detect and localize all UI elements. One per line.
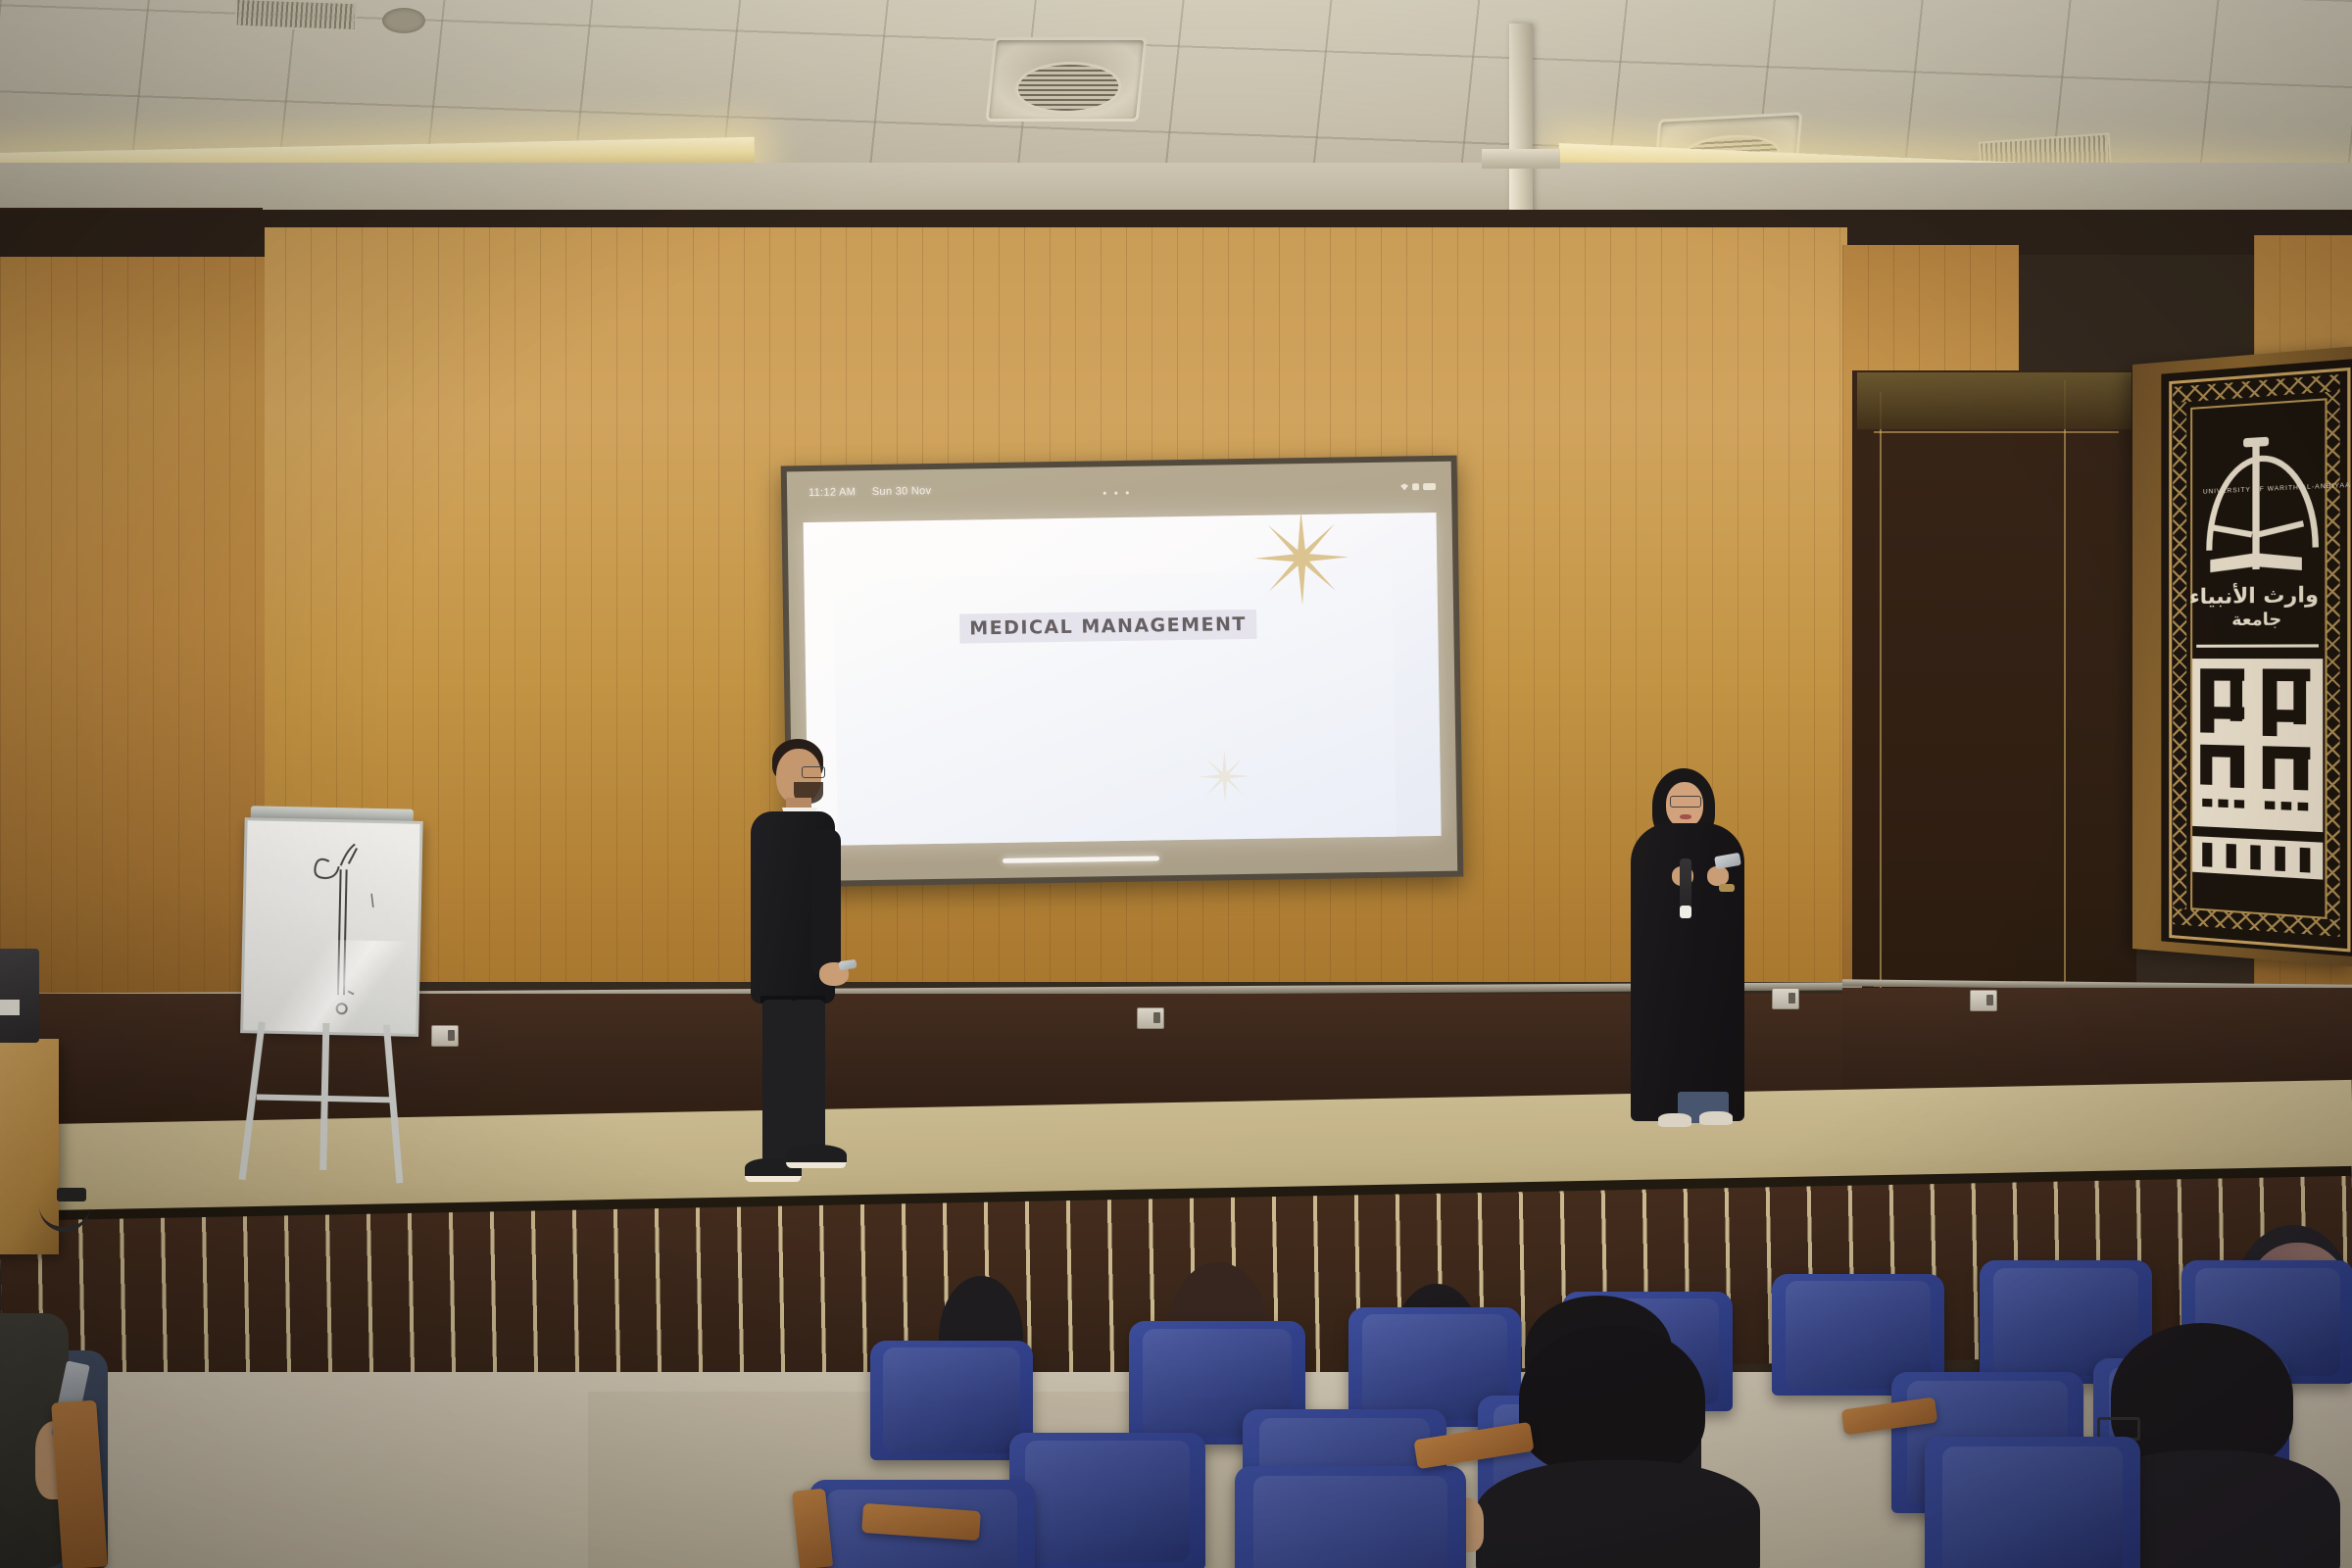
auditorium-seat[interactable] xyxy=(870,1341,1033,1460)
kufic-glyph xyxy=(2263,668,2311,681)
wifi-icon xyxy=(1400,483,1408,490)
wall-shadow-band xyxy=(0,210,265,257)
presentation-slide: MEDICAL MANAGEMENT xyxy=(804,513,1442,846)
male-presenter-leg-left xyxy=(762,1000,796,1166)
female-presenter-glasses xyxy=(1670,796,1701,808)
emblem-arabic-subtitle: جامعة xyxy=(2196,610,2319,631)
female-presenter-hand-phone xyxy=(1707,866,1729,886)
attendee-shoulders xyxy=(1476,1460,1760,1568)
male-presenter-phone[interactable] xyxy=(838,959,857,970)
hvac-diffuser-vent xyxy=(985,37,1147,122)
flipchart-glare xyxy=(243,938,417,1034)
kufic-glyph xyxy=(2277,710,2306,722)
floor-power-adapter xyxy=(57,1188,86,1201)
foot-block-gap xyxy=(2227,844,2236,868)
power-outlet[interactable] xyxy=(431,1025,459,1047)
microphone-foot xyxy=(1680,906,1691,918)
panel-gold-trim xyxy=(1880,392,1882,1000)
power-outlet[interactable] xyxy=(1137,1007,1164,1029)
podium-monitor xyxy=(0,949,39,1043)
panel-top-glow xyxy=(1857,372,2131,429)
mirrored-status-bar: 11:12 AM Sun 30 Nov xyxy=(808,485,931,499)
foot-block-gap xyxy=(2300,848,2311,873)
easel-leg-left xyxy=(239,1022,266,1181)
male-presenter xyxy=(737,739,874,1200)
right-dark-panel xyxy=(1852,370,2136,1056)
female-presenter-shoe-right xyxy=(1699,1111,1733,1125)
kufic-glyph xyxy=(2281,802,2292,810)
power-outlet[interactable] xyxy=(1772,988,1799,1009)
emblem-sword-blade xyxy=(2252,437,2259,569)
emblem-divider-rule xyxy=(2196,644,2319,647)
foot-block-gap xyxy=(2202,843,2212,867)
kufic-glyph xyxy=(2234,800,2244,808)
projection-screen-surface: 11:12 AM Sun 30 Nov • • • xyxy=(787,462,1457,882)
window-grabber-icon[interactable]: • • • xyxy=(1102,486,1131,500)
projector-mount-bracket xyxy=(1482,149,1560,169)
kufic-glyph xyxy=(2265,801,2275,809)
status-time: 11:12 AM xyxy=(808,486,856,499)
kufic-glyph xyxy=(2200,668,2244,681)
easel-leg-right xyxy=(383,1024,404,1183)
control-center-icon xyxy=(1412,483,1419,490)
emblem-arabic-name: وارث الأنبياء xyxy=(2196,582,2319,609)
power-outlet[interactable] xyxy=(1970,990,1997,1011)
battery-icon xyxy=(1423,483,1436,490)
kufic-glyph xyxy=(2218,799,2228,808)
foot-block-gap xyxy=(2275,846,2285,871)
panel-gold-trim xyxy=(2064,380,2066,1017)
vent-inner-grille xyxy=(1012,62,1124,113)
female-presenter-watch xyxy=(1719,884,1735,892)
kufic-glyph xyxy=(2263,746,2276,789)
kufic-glyph xyxy=(2293,759,2308,791)
ceiling-speaker xyxy=(382,8,425,33)
flipchart-paper xyxy=(240,817,423,1037)
male-presenter-glasses xyxy=(802,766,825,778)
slide-title: MEDICAL MANAGEMENT xyxy=(959,610,1256,644)
female-presenter-shoe-left xyxy=(1658,1113,1691,1127)
emblem-diamond-pattern-right xyxy=(2325,391,2339,920)
female-presenter xyxy=(1625,768,1752,1141)
left-wood-wall xyxy=(0,251,265,996)
emblem-kufic-panel xyxy=(2192,659,2323,832)
kufic-glyph xyxy=(2298,803,2309,811)
university-emblem-plaque: UNIVERSITY OF WARITH AL-ANBIYAA وارث الأ… xyxy=(2132,346,2352,967)
male-presenter-shoe-right xyxy=(786,1145,847,1168)
auditorium-seat[interactable] xyxy=(1925,1437,2140,1568)
emblem-sword-hilt xyxy=(2243,437,2269,448)
attendee-hair xyxy=(1519,1325,1705,1474)
lecture-hall-photo: 11:12 AM Sun 30 Nov • • • xyxy=(0,0,2352,1568)
podium-monitor-label xyxy=(0,1000,20,1015)
kufic-glyph xyxy=(2200,745,2212,785)
status-icon-tray xyxy=(1400,483,1436,491)
ceiling-air-grille xyxy=(235,0,358,31)
whiteboard-flipchart-easel xyxy=(237,800,421,1186)
status-date: Sun 30 Nov xyxy=(872,485,932,498)
kufic-glyph xyxy=(2214,707,2244,719)
male-presenter-leg-right xyxy=(792,1000,825,1162)
auditorium-seat[interactable] xyxy=(1009,1433,1205,1568)
kufic-glyph xyxy=(2202,799,2212,808)
home-indicator-bar[interactable] xyxy=(1003,856,1159,863)
female-presenter-lips xyxy=(1680,814,1691,819)
panel-gold-trim xyxy=(1874,431,2119,433)
foot-block-gap xyxy=(2250,845,2260,869)
emblem-diamond-pattern-left xyxy=(2173,402,2186,909)
projection-screen-frame: 11:12 AM Sun 30 Nov • • • xyxy=(781,456,1464,888)
kufic-glyph xyxy=(2230,758,2244,788)
ceiling-bulkhead xyxy=(0,163,2352,214)
male-presenter-arm xyxy=(811,829,841,976)
auditorium-seat[interactable] xyxy=(1235,1466,1466,1568)
